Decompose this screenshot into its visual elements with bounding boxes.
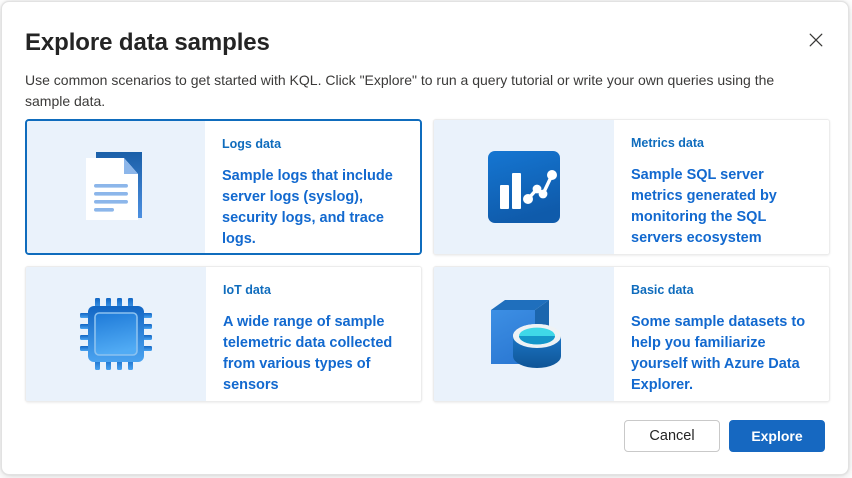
cancel-button[interactable]: Cancel — [624, 420, 720, 452]
card-description: Sample SQL server metrics generated by m… — [631, 165, 811, 249]
card-description: Some sample datasets to help you familia… — [631, 312, 811, 396]
card-kicker: Metrics data — [631, 135, 811, 152]
sample-card-iot-data[interactable]: IoT data A wide range of sample telemetr… — [25, 266, 422, 402]
sample-card-logs-data[interactable]: Logs data Sample logs that include serve… — [25, 119, 422, 255]
bar-line-chart-icon — [488, 151, 560, 223]
microchip-icon — [77, 295, 155, 373]
card-text-pane: Logs data Sample logs that include serve… — [205, 121, 420, 253]
sample-cards-grid: Logs data Sample logs that include serve… — [25, 119, 830, 402]
database-stack-icon — [483, 296, 565, 372]
card-description: A wide range of sample telemetric data c… — [223, 312, 403, 396]
card-description: Sample logs that include server logs (sy… — [222, 166, 402, 250]
card-icon-pane — [434, 267, 614, 401]
dialog-footer: Cancel Explore — [624, 420, 825, 452]
card-icon-pane — [26, 267, 206, 401]
card-text-pane: Basic data Some sample datasets to help … — [614, 267, 829, 401]
sample-card-metrics-data[interactable]: Metrics data Sample SQL server metrics g… — [433, 119, 830, 255]
card-kicker: IoT data — [223, 282, 403, 299]
close-button[interactable] — [801, 25, 831, 55]
dialog-description: Use common scenarios to get started with… — [25, 70, 797, 112]
page-title: Explore data samples — [25, 28, 270, 58]
card-icon-pane — [434, 120, 614, 254]
card-kicker: Logs data — [222, 136, 402, 153]
card-text-pane: Metrics data Sample SQL server metrics g… — [614, 120, 829, 254]
close-icon — [809, 33, 823, 47]
explore-data-samples-dialog: Explore data samples Use common scenario… — [1, 1, 849, 475]
document-lines-icon — [80, 150, 152, 224]
explore-button[interactable]: Explore — [729, 420, 825, 452]
sample-card-basic-data[interactable]: Basic data Some sample datasets to help … — [433, 266, 830, 402]
card-kicker: Basic data — [631, 282, 811, 299]
card-text-pane: IoT data A wide range of sample telemetr… — [206, 267, 421, 401]
card-icon-pane — [27, 121, 205, 253]
